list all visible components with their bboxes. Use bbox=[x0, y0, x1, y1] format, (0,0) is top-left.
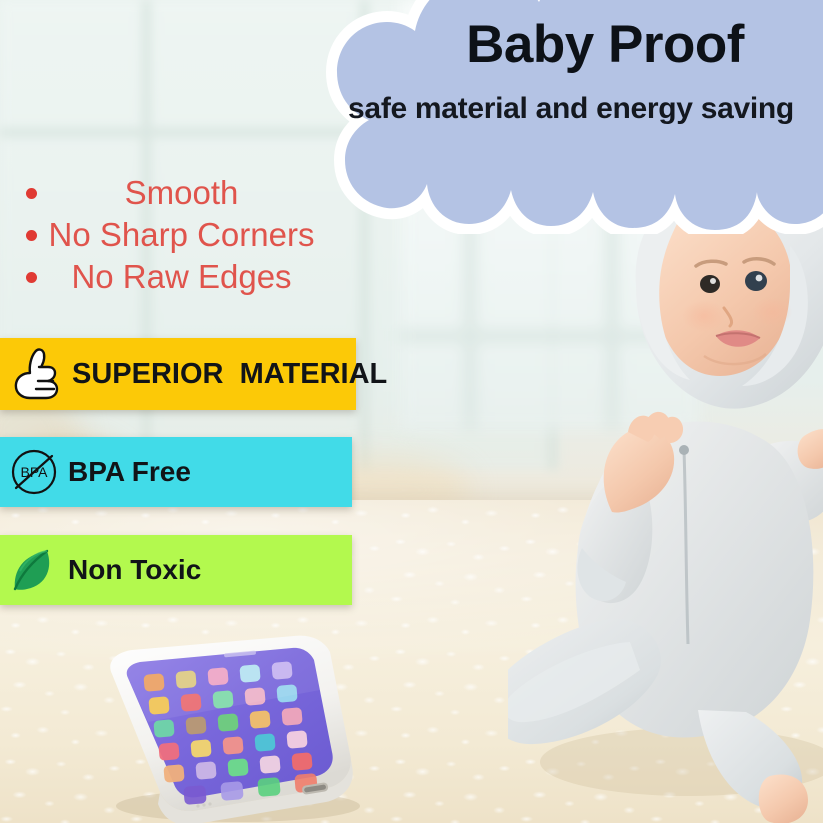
banner-title: Baby Proof bbox=[395, 18, 815, 71]
badge-non-toxic: Non Toxic bbox=[0, 535, 352, 605]
bullet-label: No Raw Edges bbox=[37, 258, 340, 296]
baby-photo-subject bbox=[508, 150, 823, 823]
bullet-dot-icon bbox=[26, 188, 37, 199]
bullet-label: No Sharp Corners bbox=[37, 216, 340, 254]
badge-label: SUPERIOR MATERIAL bbox=[72, 358, 387, 391]
feature-bullet-list: Smooth No Sharp Corners No Raw Edges bbox=[0, 172, 340, 298]
badge-label: Non Toxic bbox=[68, 554, 201, 586]
badge-superior-material: SUPERIOR MATERIAL bbox=[0, 338, 356, 410]
banner-subtitle: safe material and energy saving bbox=[311, 94, 823, 124]
list-item: No Sharp Corners bbox=[0, 214, 340, 256]
badge-label: BPA Free bbox=[68, 456, 191, 488]
badge-bpa-free: BPA BPA Free bbox=[0, 437, 352, 507]
infographic-canvas: Baby Proof safe material and energy savi… bbox=[0, 0, 823, 823]
bpa-free-icon: BPA bbox=[0, 437, 68, 507]
bullet-label: Smooth bbox=[37, 174, 340, 212]
bullet-dot-icon bbox=[26, 230, 37, 241]
thumbs-up-icon bbox=[0, 338, 72, 410]
bpa-icon-text: BPA bbox=[21, 464, 49, 480]
leaf-icon bbox=[0, 535, 68, 605]
list-item: Smooth bbox=[0, 172, 340, 214]
toy-phone bbox=[88, 634, 360, 823]
list-item: No Raw Edges bbox=[0, 256, 340, 298]
bullet-dot-icon bbox=[26, 272, 37, 283]
cloud-banner: Baby Proof safe material and energy savi… bbox=[275, 0, 823, 234]
